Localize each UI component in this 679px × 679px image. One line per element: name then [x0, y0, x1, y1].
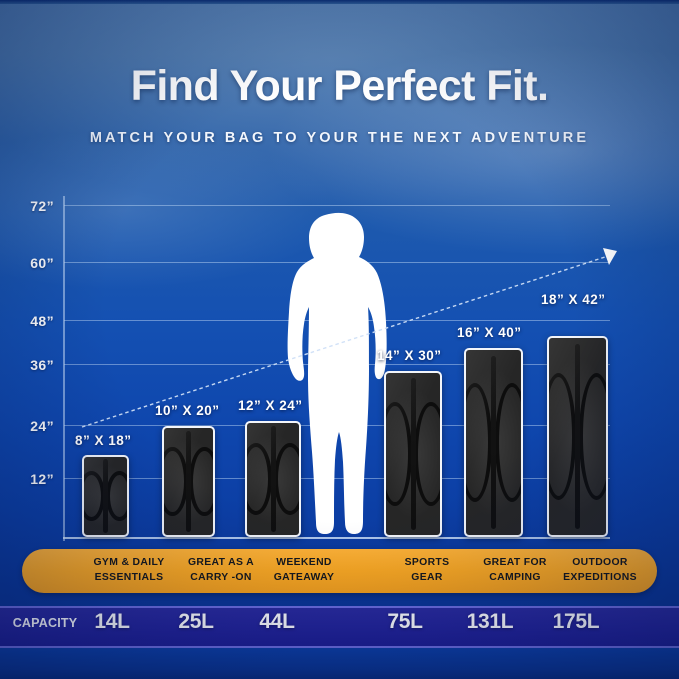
category-line1-3: WEEKEND — [276, 557, 332, 568]
duffel-bag-icon-2[interactable] — [162, 426, 215, 537]
category-line1-4: SPORTS — [405, 557, 450, 568]
y-tick-72: 72” — [10, 198, 54, 214]
duffel-bag-icon-5[interactable] — [464, 348, 523, 537]
capacity-value-3: 44L — [228, 610, 326, 640]
y-tick-36: 36” — [10, 357, 54, 373]
duffel-bag-icon-3[interactable] — [245, 421, 301, 537]
bag-size-label-3: 12” X 24” — [238, 398, 303, 413]
y-tick-48: 48” — [10, 313, 54, 329]
bag-size-label-4: 14” X 30” — [377, 348, 442, 363]
infographic-canvas: Find Your Perfect Fit. MATCH YOUR BAG TO… — [0, 0, 679, 679]
y-tick-12: 12” — [10, 471, 54, 487]
category-line1-6: OUTDOOR — [572, 557, 628, 568]
gridline-72 — [64, 205, 610, 206]
bag-size-label-2: 10” X 20” — [155, 403, 220, 418]
y-axis-line — [63, 196, 65, 541]
capacity-value-6: 175L — [527, 610, 625, 640]
y-tick-24: 24” — [10, 418, 54, 434]
duffel-bag-icon-1[interactable] — [82, 455, 129, 537]
category-pill-bar: GYM & DAILY ESSENTIALS GREAT AS A CARRY … — [22, 549, 657, 593]
category-cell-6[interactable]: OUTDOOR EXPEDITIONS — [531, 555, 669, 587]
y-tick-60: 60” — [10, 255, 54, 271]
capacity-value-5: 131L — [441, 610, 539, 640]
bottom-band — [0, 648, 679, 679]
bag-size-label-5: 16” X 40” — [457, 325, 522, 340]
category-cell-3[interactable]: WEEKEND GATEAWAY — [235, 555, 373, 587]
bag-size-label-1: 8” X 18” — [75, 433, 132, 448]
bag-size-label-6: 18” X 42” — [541, 292, 606, 307]
duffel-bag-icon-4[interactable] — [384, 371, 442, 537]
category-line2-3: GATEAWAY — [274, 572, 335, 583]
category-line2-4: GEAR — [411, 572, 442, 583]
duffel-bag-icon-6[interactable] — [547, 336, 608, 537]
category-line2-6: EXPEDITIONS — [563, 572, 637, 583]
capacity-value-4: 75L — [356, 610, 454, 640]
